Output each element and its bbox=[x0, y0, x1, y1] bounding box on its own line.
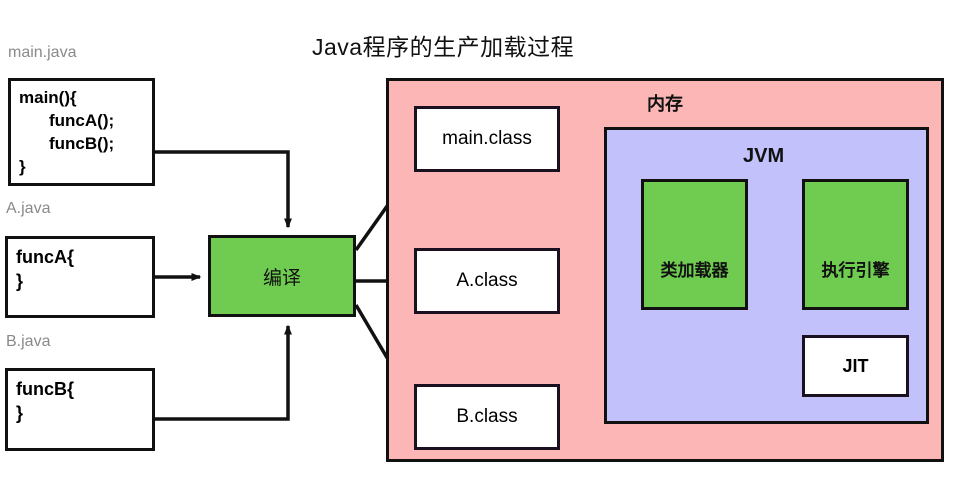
file-caption-main-java: main.java bbox=[8, 44, 76, 62]
file-caption-b-java: B.java bbox=[6, 333, 50, 351]
class-box-main-class: main.class bbox=[414, 106, 560, 172]
source-line-main-3: funcB(); bbox=[19, 133, 144, 156]
source-box-b-java: funcB{ } bbox=[5, 368, 155, 451]
jvm-classloader-label: 类加载器 bbox=[661, 256, 729, 281]
jvm-component-jit: JIT bbox=[802, 335, 909, 397]
source-line-a-2: } bbox=[16, 271, 23, 291]
diagram-canvas: Java程序的生产加载过程 main.java main(){ funcA();… bbox=[0, 0, 954, 477]
jvm-engine-label: 执行引擎 bbox=[822, 256, 890, 281]
compile-process-box: 编译 bbox=[208, 235, 356, 317]
source-line-main-1: main(){ bbox=[19, 88, 77, 107]
jvm-component-classloader: 类加载器 bbox=[641, 179, 748, 310]
file-caption-a-java: A.java bbox=[6, 200, 50, 218]
source-line-b-2: } bbox=[16, 403, 23, 423]
source-line-b-1: funcB{ bbox=[16, 379, 74, 399]
source-line-main-2: funcA(); bbox=[19, 110, 144, 133]
page-title: Java程序的生产加载过程 bbox=[312, 28, 574, 62]
jvm-label: JVM bbox=[743, 145, 784, 168]
wire-main-to-compile bbox=[155, 152, 288, 227]
class-box-a-class: A.class bbox=[414, 248, 560, 314]
source-line-main-4: } bbox=[19, 157, 26, 176]
source-box-main-java: main(){ funcA(); funcB(); } bbox=[8, 78, 155, 186]
wire-b-to-compile bbox=[155, 326, 288, 419]
class-label-a: A.class bbox=[456, 270, 517, 292]
class-box-b-class: B.class bbox=[414, 384, 560, 450]
compile-label: 编译 bbox=[263, 263, 301, 290]
class-label-b: B.class bbox=[456, 406, 517, 428]
jvm-component-execution-engine: 执行引擎 bbox=[802, 179, 909, 310]
source-box-a-java: funcA{ } bbox=[5, 236, 155, 318]
source-line-a-1: funcA{ bbox=[16, 247, 74, 267]
memory-label: 内存 bbox=[647, 90, 683, 116]
jvm-jit-label: JIT bbox=[842, 356, 868, 377]
class-label-main: main.class bbox=[442, 128, 532, 150]
